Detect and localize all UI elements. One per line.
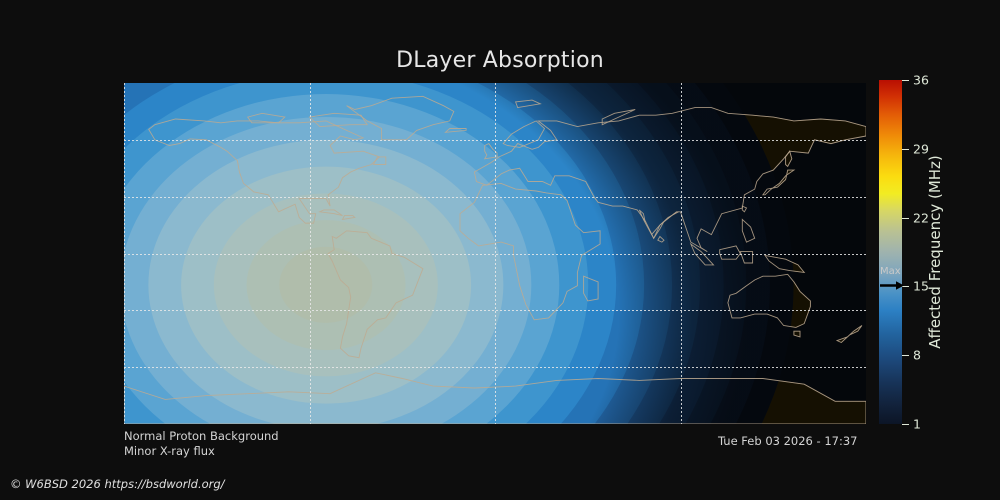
proton-status-text: Normal Proton Background xyxy=(124,429,279,444)
coastline-australia xyxy=(728,274,811,327)
xray-status-text: Minor X-ray flux xyxy=(124,444,279,459)
colorbar-tick-label-1: 1 xyxy=(913,417,921,432)
coastline-tasmania xyxy=(794,331,800,337)
colorbar[interactable] xyxy=(879,80,902,424)
coastline-madagascar xyxy=(584,276,599,301)
figure-canvas: DLayer Absorption 1815222936 Max Affecte… xyxy=(0,0,1000,500)
status-annotations: Normal Proton Background Minor X-ray flu… xyxy=(124,429,279,459)
coastline-uk xyxy=(485,144,497,159)
coastline-overlay xyxy=(124,83,866,424)
coastline-sulawesi xyxy=(740,252,752,263)
coastline-sakhalin xyxy=(786,151,792,166)
coastline-philippines xyxy=(742,219,754,242)
page-title: DLayer Absorption xyxy=(0,48,1000,73)
coastline-africa xyxy=(460,183,600,319)
coastline-baffin xyxy=(310,113,368,126)
coastline-taiwanetc xyxy=(742,206,746,212)
coastline-hispaniola xyxy=(343,216,355,220)
coastline-nz xyxy=(837,326,862,343)
coastline-newfound xyxy=(373,157,385,165)
colorbar-tick-mark-1 xyxy=(902,424,909,425)
copyright-footer: © W6BSD 2026 https://bsdworld.org/ xyxy=(10,477,225,491)
coastline-europe-asia xyxy=(474,108,866,252)
coastline-sumatra xyxy=(691,244,714,265)
world-map-plot[interactable] xyxy=(124,83,866,424)
colorbar-tick-mark-15 xyxy=(902,286,909,287)
colorbar-axis-label-text: Affected Frequency (MHz) xyxy=(926,155,944,349)
coastline-svalbard xyxy=(516,100,541,108)
colorbar-tick-mark-36 xyxy=(902,80,909,81)
coastline-india-note xyxy=(639,210,678,238)
timestamp-label: Tue Feb 03 2026 - 17:37 xyxy=(718,434,857,448)
coastline-srilanka xyxy=(658,237,664,243)
coastline-antarctica xyxy=(124,373,866,424)
coastline-cuba xyxy=(320,210,343,216)
coastline-south-america xyxy=(328,231,423,358)
colorbar-tick-mark-29 xyxy=(902,149,909,150)
coastline-japan xyxy=(763,170,794,195)
coastline-scand2 xyxy=(503,121,544,147)
colorbar-tick-mark-8 xyxy=(902,355,909,356)
coastline-borneo xyxy=(720,246,741,259)
coastline-novaya xyxy=(602,110,635,125)
colorbar-gradient xyxy=(879,80,902,424)
coastline-iceland xyxy=(446,129,467,133)
colorbar-axis-label: Affected Frequency (MHz) xyxy=(925,80,945,424)
coastline-north-america xyxy=(149,119,380,223)
colorbar-tick-mark-22 xyxy=(902,218,909,219)
colorbar-tick-label-8: 8 xyxy=(913,348,921,363)
coastline-new-guinea xyxy=(765,255,804,272)
